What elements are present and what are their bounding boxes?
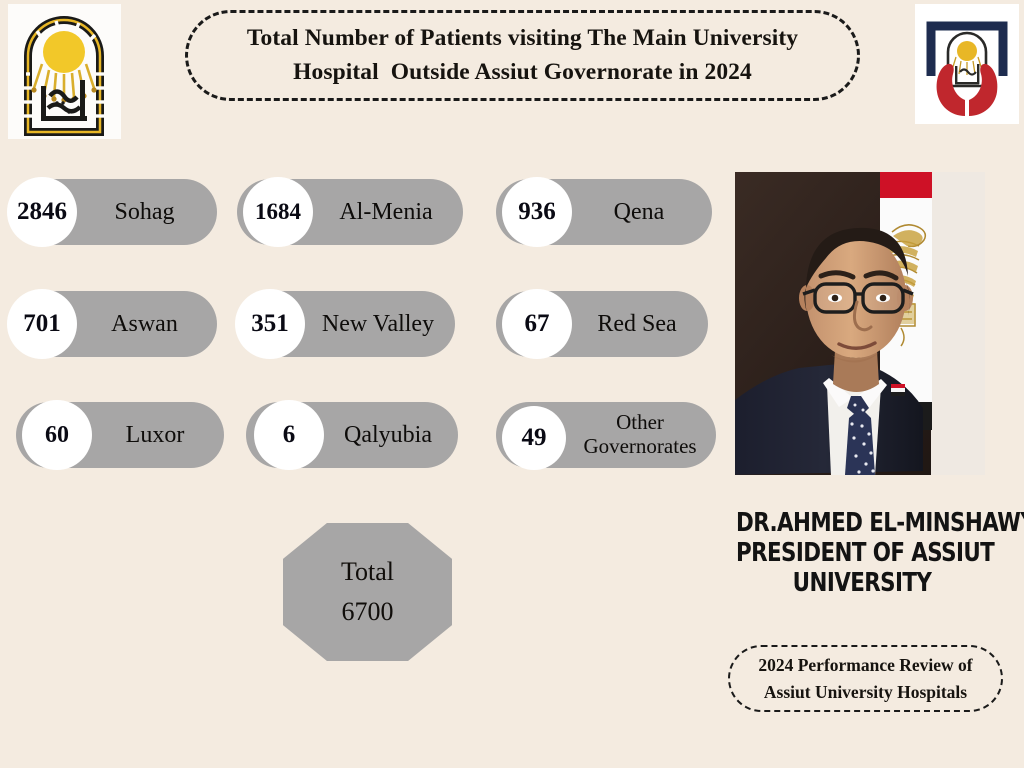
stat-value: 701 — [23, 310, 61, 338]
title-line-1: Total Number of Patients visiting The Ma… — [247, 22, 798, 55]
stat-value: 936 — [518, 198, 556, 226]
stat-pill[interactable]: 49 Other Governorates — [496, 402, 716, 468]
stat-value-badge: 49 — [502, 406, 566, 470]
stat-pill[interactable]: 6 Qalyubia — [246, 402, 458, 468]
total-value: 6700 — [342, 592, 394, 632]
total-label: Total — [341, 552, 394, 592]
president-name-line-1: DR.AHMED EL-MINSHAWY — [736, 508, 988, 538]
president-name-line-2: PRESIDENT OF ASSIUT — [736, 538, 988, 568]
stat-label: Other Governorates — [568, 402, 712, 468]
stat-value-badge: 60 — [22, 400, 92, 470]
stat-value: 6 — [283, 421, 296, 449]
total-badge: Total 6700 — [283, 523, 452, 661]
president-name-line-3: UNIVERSITY — [736, 568, 988, 598]
stat-pill[interactable]: 351 New Valley — [237, 291, 455, 357]
infographic-canvas: Total Number of Patients visiting The Ma… — [0, 0, 1024, 768]
stat-value: 49 — [522, 424, 547, 452]
stat-label: Sohag — [80, 179, 209, 245]
stat-value-badge: 701 — [7, 289, 77, 359]
stat-value-badge: 936 — [502, 177, 572, 247]
stat-pill[interactable]: 67 Red Sea — [496, 291, 708, 357]
stat-pill[interactable]: 936 Qena — [496, 179, 712, 245]
stat-label: Aswan — [80, 291, 209, 357]
stat-pill[interactable]: 60 Luxor — [16, 402, 224, 468]
stat-value: 67 — [525, 310, 550, 338]
stat-label: Al-Menia — [317, 179, 455, 245]
stat-value-badge: 6 — [254, 400, 324, 470]
assiut-university-logo — [8, 4, 121, 139]
title-line-2: Hospital Outside Assiut Governorate in 2… — [293, 56, 752, 89]
stat-value: 2846 — [17, 198, 67, 226]
stat-label: Luxor — [94, 402, 216, 468]
stat-value: 1684 — [255, 199, 301, 225]
portrait-photo — [735, 172, 985, 475]
president-name: DR.AHMED EL-MINSHAWY PRESIDENT OF ASSIUT… — [736, 508, 988, 598]
stat-label: Qalyubia — [326, 402, 450, 468]
stat-value: 60 — [45, 422, 69, 449]
stat-value: 351 — [251, 310, 289, 338]
footer-line-2: Assiut University Hospitals — [764, 679, 967, 705]
stat-pill[interactable]: 1684 Al-Menia — [237, 179, 463, 245]
stat-pill[interactable]: 701 Aswan — [8, 291, 217, 357]
stat-value-badge: 1684 — [243, 177, 313, 247]
stat-label: Red Sea — [574, 291, 700, 357]
footer-line-1: 2024 Performance Review of — [758, 652, 972, 678]
page-title: Total Number of Patients visiting The Ma… — [185, 10, 860, 101]
stat-value-badge: 2846 — [7, 177, 77, 247]
stat-value-badge: 67 — [502, 289, 572, 359]
stat-value-badge: 351 — [235, 289, 305, 359]
assiut-university-hospitals-logo — [915, 4, 1019, 124]
stat-label: Qena — [574, 179, 704, 245]
stat-label: New Valley — [307, 291, 449, 357]
stat-pill[interactable]: 2846 Sohag — [8, 179, 217, 245]
footer-badge: 2024 Performance Review of Assiut Univer… — [728, 645, 1003, 712]
